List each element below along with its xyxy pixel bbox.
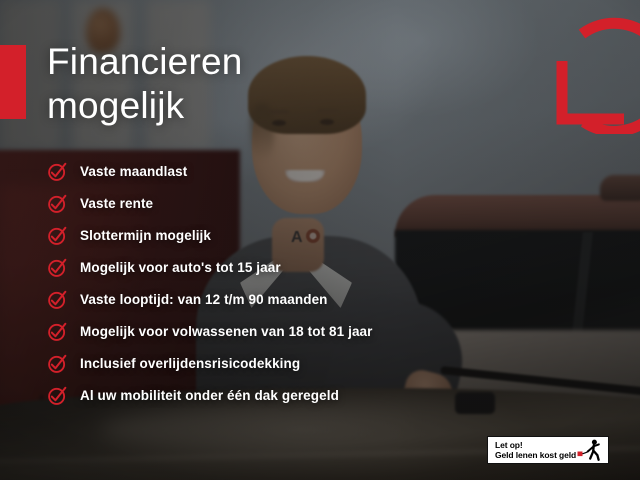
list-item-label: Mogelijk voor volwassenen van 18 tot 81 …: [80, 324, 373, 339]
red-check-circle-icon: [47, 385, 68, 406]
list-item: Al uw mobiliteit onder één dak geregeld: [47, 379, 477, 411]
red-check-circle-icon: [47, 353, 68, 374]
list-item: Vaste looptijd: van 12 t/m 90 maanden: [47, 283, 477, 315]
red-check-circle-icon: [47, 161, 68, 182]
list-item-label: Vaste looptijd: van 12 t/m 90 maanden: [80, 292, 328, 307]
afm-line-2: Geld lenen kost geld: [495, 450, 577, 461]
list-item-label: Mogelijk voor auto's tot 15 jaar: [80, 260, 281, 275]
red-check-circle-icon: [47, 289, 68, 310]
list-item: Vaste rente: [47, 187, 477, 219]
list-item: Mogelijk voor volwassenen van 18 tot 81 …: [47, 315, 477, 347]
list-item: Inclusief overlijdensrisicodekking: [47, 347, 477, 379]
afm-warning-text: Let op! Geld lenen kost geld: [495, 440, 577, 461]
red-check-circle-icon: [47, 225, 68, 246]
red-check-circle-icon: [47, 193, 68, 214]
red-check-circle-icon: [47, 257, 68, 278]
list-item-label: Vaste rente: [80, 196, 153, 211]
walking-person-pulling-block-icon: [577, 439, 603, 461]
list-item-label: Vaste maandlast: [80, 164, 187, 179]
list-item: Slottermijn mogelijk: [47, 219, 477, 251]
red-check-circle-icon: [47, 321, 68, 342]
red-accent-bar: [0, 45, 26, 119]
list-item-label: Inclusief overlijdensrisicodekking: [80, 356, 300, 371]
list-item: Vaste maandlast: [47, 155, 477, 187]
page-title: Financieren mogelijk: [47, 40, 243, 128]
list-item-label: Al uw mobiliteit onder één dak geregeld: [80, 388, 339, 403]
feature-list: Vaste maandlast Vaste rente Slottermijn …: [47, 155, 477, 411]
circular-arrow-icon: [546, 4, 640, 134]
promo-banner: A Financieren mogelijk Vaste maandlast: [0, 0, 640, 480]
afm-line-1: Let op!: [495, 440, 577, 451]
list-item: Mogelijk voor auto's tot 15 jaar: [47, 251, 477, 283]
list-item-label: Slottermijn mogelijk: [80, 228, 211, 243]
afm-warning-badge: Let op! Geld lenen kost geld: [487, 436, 609, 464]
